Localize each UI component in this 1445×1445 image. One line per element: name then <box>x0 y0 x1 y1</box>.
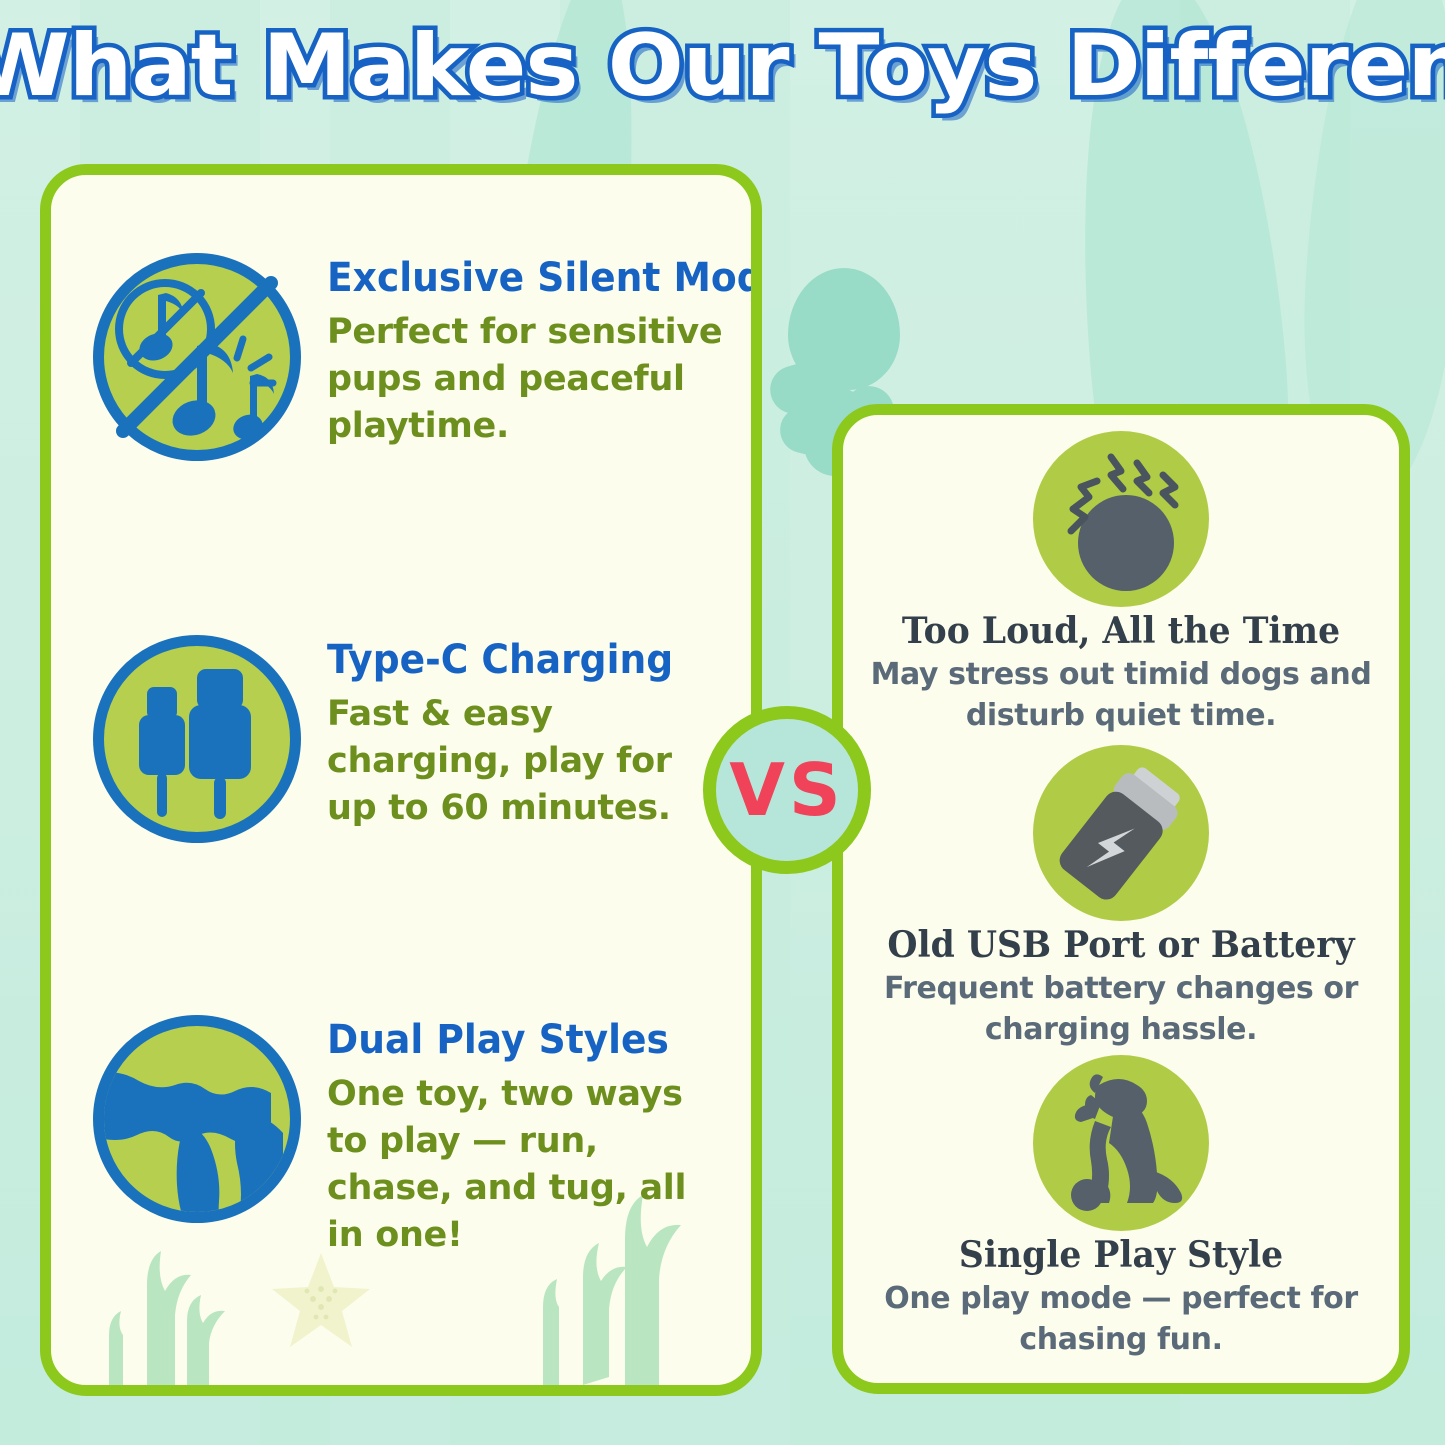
old-battery-icon <box>1033 745 1209 921</box>
pros-item-3-heading: Dual Play Styles <box>327 1019 709 1061</box>
starfish-icon <box>266 1247 376 1357</box>
pros-item-1-body: Perfect for sensitive pups and peaceful … <box>327 309 762 450</box>
loud-noise-ball-icon <box>1033 431 1209 607</box>
no-sound-music-note-icon <box>93 253 301 461</box>
pros-card: Exclusive Silent Mode Perfect for sensit… <box>40 164 762 1396</box>
vs-label: VS <box>729 754 845 826</box>
pros-item-1: Exclusive Silent Mode Perfect for sensit… <box>93 253 733 461</box>
pros-item-2-heading: Type-C Charging <box>327 639 709 681</box>
cons-item-1-body: May stress out timid dogs and disturb qu… <box>843 655 1399 737</box>
page-title: What Makes Our Toys Different <box>0 16 1445 116</box>
pros-item-2-body: Fast & easy charging, play for up to 60 … <box>327 691 733 832</box>
pros-item-3: Dual Play Styles One toy, two ways to pl… <box>93 1015 733 1259</box>
pros-item-1-heading: Exclusive Silent Mode <box>327 257 762 299</box>
infographic-canvas: What Makes Our Toys Different <box>0 0 1445 1445</box>
sitting-dog-with-ball-icon <box>1033 1055 1209 1231</box>
cons-item-3: Single Play Style One play mode — perfec… <box>843 1055 1399 1360</box>
cons-card: Too Loud, All the Time May stress out ti… <box>832 404 1410 1394</box>
vs-badge: VS <box>703 706 871 874</box>
pros-item-3-body: One toy, two ways to play — run, chase, … <box>327 1071 733 1259</box>
cons-item-2-body: Frequent battery changes or charging has… <box>843 969 1399 1051</box>
cons-item-2-heading: Old USB Port or Battery <box>854 927 1388 965</box>
cons-item-1: Too Loud, All the Time May stress out ti… <box>843 431 1399 736</box>
globe-dual-mode-icon <box>93 1015 301 1223</box>
cons-item-3-body: One play mode — perfect for chasing fun. <box>843 1279 1399 1361</box>
pros-item-2: Type-C Charging Fast & easy charging, pl… <box>93 635 733 843</box>
cons-item-3-heading: Single Play Style <box>854 1237 1388 1275</box>
cons-item-2: Old USB Port or Battery Frequent battery… <box>843 745 1399 1050</box>
usb-type-c-cable-icon <box>93 635 301 843</box>
cons-item-1-heading: Too Loud, All the Time <box>854 613 1388 651</box>
